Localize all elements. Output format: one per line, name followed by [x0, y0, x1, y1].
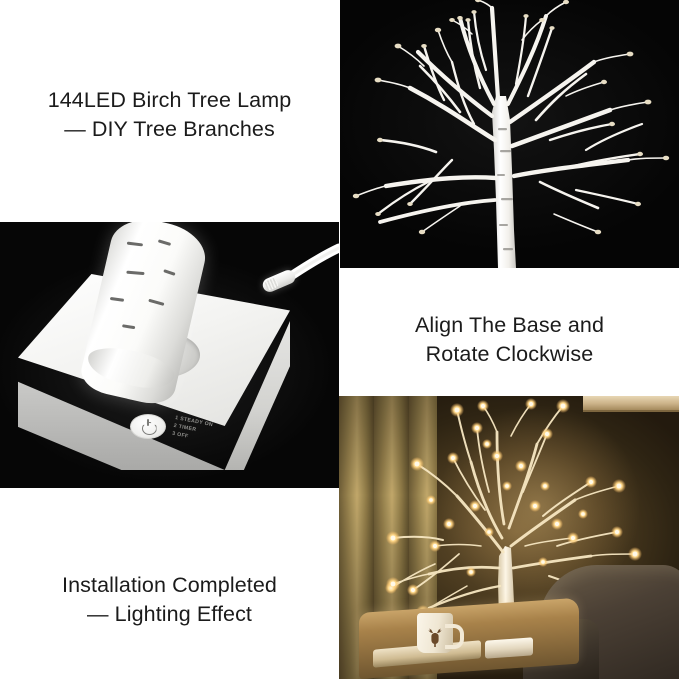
caption-line-2: — DIY Tree Branches — [64, 115, 275, 144]
unlit-birch-tree-illustration — [340, 0, 679, 268]
caption-align-base: Align The Base and Rotate Clockwise — [340, 290, 679, 390]
panel-unlit-birch-tree — [340, 0, 679, 268]
power-cable-group — [0, 222, 339, 488]
deer-mug — [417, 613, 453, 653]
caption-line-1: Align The Base and — [415, 311, 604, 340]
caption-line-2: — Lighting Effect — [87, 600, 252, 629]
panel-lit-tree-room — [339, 396, 679, 679]
caption-product-title: 144LED Birch Tree Lamp — DIY Tree Branch… — [0, 60, 339, 170]
caption-line-1: Installation Completed — [62, 571, 277, 600]
product-image-collage: 144LED Birch Tree Lamp — DIY Tree Branch… — [0, 0, 679, 679]
caption-line-1: 144LED Birch Tree Lamp — [48, 86, 292, 115]
caption-line-2: Rotate Clockwise — [426, 340, 594, 369]
power-cable — [0, 222, 339, 488]
panel-lamp-base: 1 STEADY ON 2 TIMER 3 OFF — [0, 222, 339, 488]
lamp-base-on-table — [485, 637, 533, 658]
caption-installation-completed: Installation Completed — Lighting Effect — [0, 545, 339, 655]
deer-silhouette-icon — [424, 624, 446, 648]
